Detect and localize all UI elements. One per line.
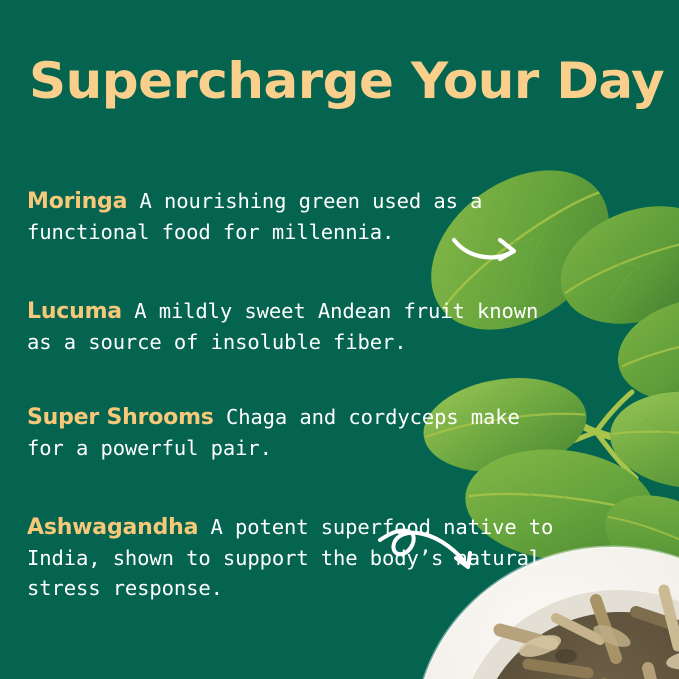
list-item: Super Shrooms Chaga and cordyceps make f… bbox=[27, 402, 567, 463]
list-item: Moringa A nourishing green used as a fun… bbox=[27, 186, 567, 247]
list-item: Ashwagandha A potent superfood native to… bbox=[27, 512, 567, 603]
benefit-term: Ashwagandha bbox=[27, 515, 198, 540]
supercharge-your-day-poster: Supercharge Your Day Moringa A nourishin… bbox=[0, 0, 679, 679]
benefit-term: Moringa bbox=[27, 189, 127, 214]
page-title: Supercharge Your Day bbox=[29, 56, 664, 106]
list-item: Lucuma A mildly sweet Andean fruit known… bbox=[27, 296, 567, 357]
benefit-term: Super Shrooms bbox=[27, 405, 214, 430]
benefit-term: Lucuma bbox=[27, 299, 122, 324]
